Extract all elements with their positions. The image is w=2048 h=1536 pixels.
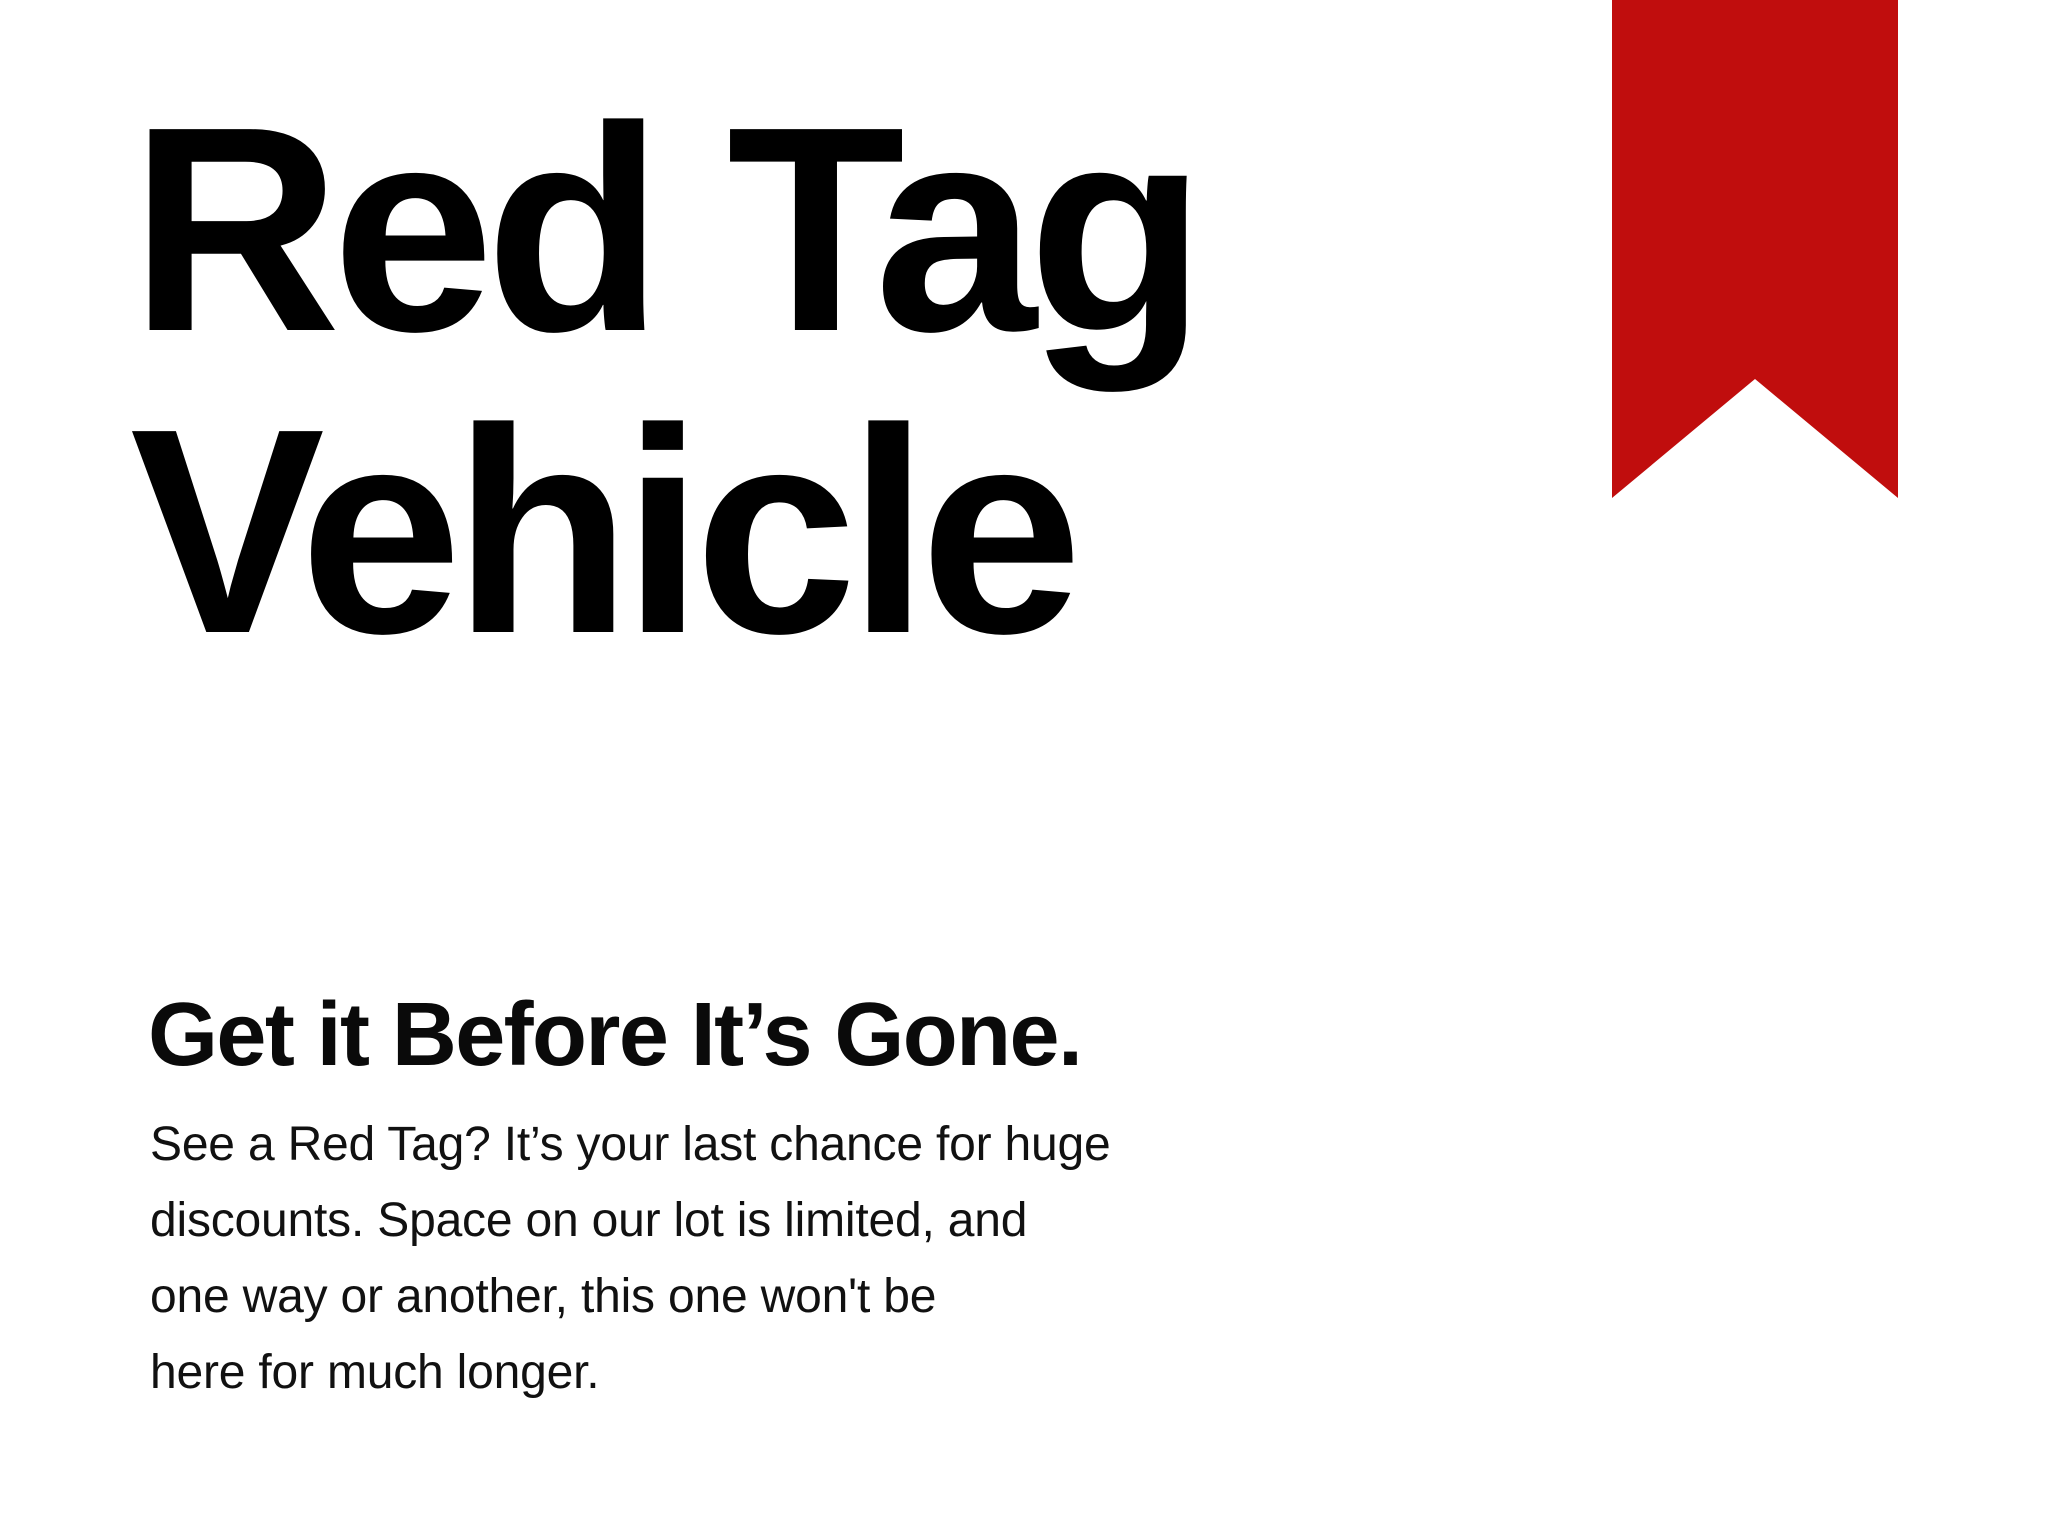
headline-line-2: Vehicle xyxy=(130,380,1530,682)
body-line-1: See a Red Tag? It’s your last chance for… xyxy=(150,1107,1270,1183)
red-ribbon-bookmark-icon xyxy=(1612,0,1898,498)
page-title: Red Tag Vehicle xyxy=(130,78,1530,682)
body-line-3: one way or another, this one won't be xyxy=(150,1259,1270,1335)
body-paragraph: See a Red Tag? It’s your last chance for… xyxy=(150,1107,1270,1411)
body-line-4: here for much longer. xyxy=(150,1335,1270,1411)
body-line-2: discounts. Space on our lot is limited, … xyxy=(150,1183,1270,1259)
red-tag-promo-poster: Red Tag Vehicle Get it Before It’s Gone.… xyxy=(0,0,2048,1536)
headline-line-1: Red Tag xyxy=(130,78,1530,380)
subheading: Get it Before It’s Gone. xyxy=(148,985,1081,1085)
